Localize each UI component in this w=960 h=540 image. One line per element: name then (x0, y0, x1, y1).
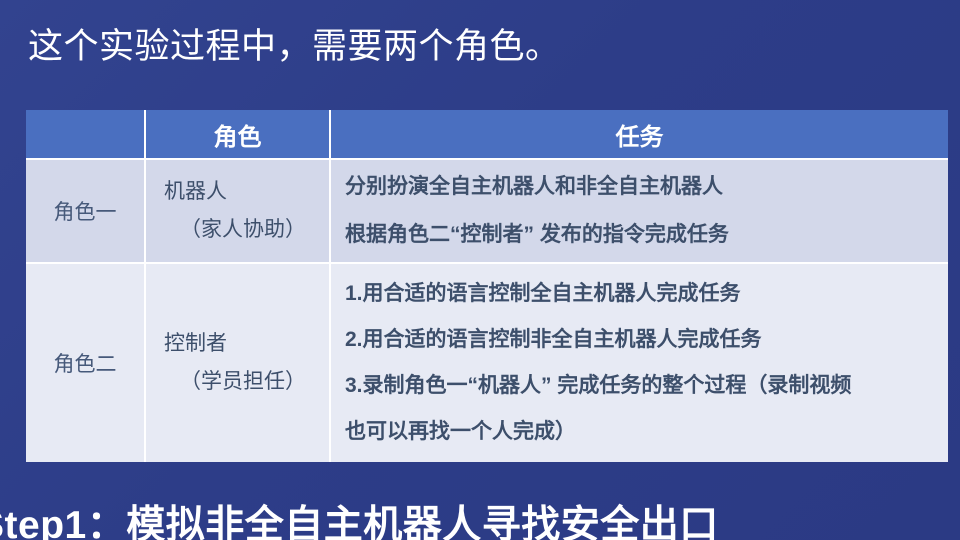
table-header-blank (26, 110, 146, 160)
task-line: 根据角色二“控制者” 发布的指令完成任务 (345, 211, 948, 259)
role-index-cell: 角色二 (26, 264, 146, 462)
page-title: 这个实验过程中，需要两个角色。 (28, 24, 561, 70)
table-header-task: 任务 (331, 110, 948, 160)
table-header-row: 角色 任务 (26, 110, 948, 160)
role-note-line: （家人协助） (164, 211, 329, 249)
role-name-cell: 机器人 （家人协助） (146, 160, 331, 264)
slide-canvas: 这个实验过程中，需要两个角色。 角色 任务 角色一 机器人 （家人协助） 分别扮… (0, 0, 960, 540)
task-line: 1.用合适的语言控制全自主机器人完成任务 (345, 271, 948, 317)
task-line: 3.录制角色一“机器人” 完成任务的整个过程（录制视频 (345, 363, 948, 409)
task-line: 分别扮演全自主机器人和非全自主机器人 (345, 163, 948, 211)
role-name-cell: 控制者 （学员担任） (146, 264, 331, 462)
table-header-role: 角色 (146, 110, 331, 160)
roles-table: 角色 任务 角色一 机器人 （家人协助） 分别扮演全自主机器人和非全自主机器人 … (26, 110, 948, 462)
table-row: 角色二 控制者 （学员担任） 1.用合适的语言控制全自主机器人完成任务 2.用合… (26, 264, 948, 462)
table-row: 角色一 机器人 （家人协助） 分别扮演全自主机器人和非全自主机器人 根据角色二“… (26, 160, 948, 264)
task-line: 也可以再找一个人完成） (345, 409, 948, 455)
role-task-cell: 分别扮演全自主机器人和非全自主机器人 根据角色二“控制者” 发布的指令完成任务 (331, 160, 948, 264)
role-index-cell: 角色一 (26, 160, 146, 264)
role-name-line: 机器人 (164, 180, 227, 203)
role-note-line: （学员担任） (164, 363, 329, 401)
task-line: 2.用合适的语言控制非全自主机器人完成任务 (345, 317, 948, 363)
role-name-line: 控制者 (164, 332, 227, 355)
step-heading: Step1：模拟非全自主机器人寻找安全出口 (0, 494, 719, 540)
role-task-cell: 1.用合适的语言控制全自主机器人完成任务 2.用合适的语言控制非全自主机器人完成… (331, 264, 948, 462)
